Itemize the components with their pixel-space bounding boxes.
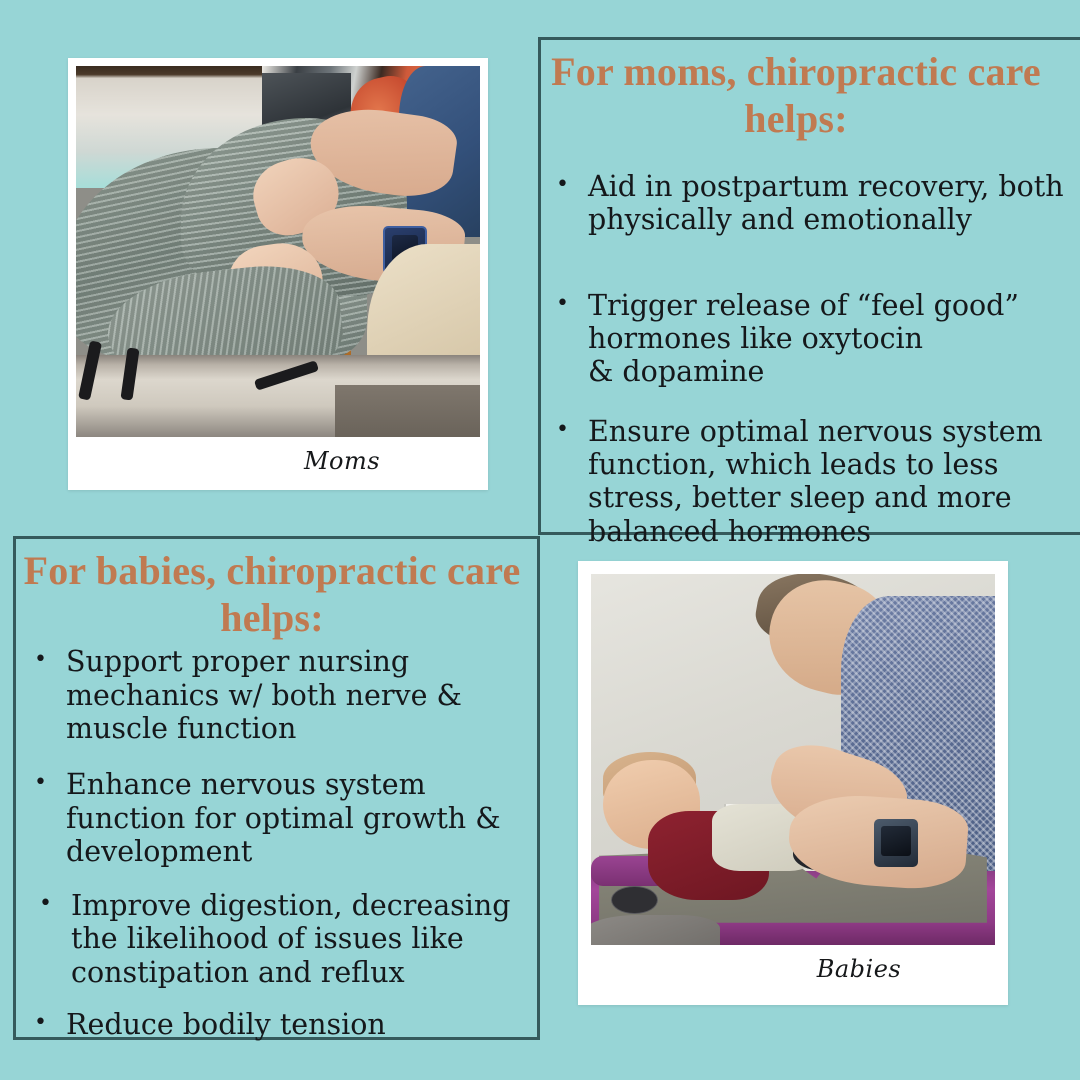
moms-photo-caption: Moms bbox=[68, 447, 488, 475]
list-item: • Aid in postpartum recovery, both physi… bbox=[556, 170, 1068, 237]
list-item-text: Ensure optimal nervous system function, … bbox=[588, 415, 1068, 548]
bullet-icon: • bbox=[556, 417, 569, 443]
bullet-icon: • bbox=[34, 770, 47, 796]
list-item-text: Improve digestion, decreasing the likeli… bbox=[71, 889, 534, 990]
moms-photo bbox=[76, 66, 480, 437]
list-item-text: Trigger release of “feel good” hormones … bbox=[588, 289, 1068, 389]
bullet-icon: • bbox=[39, 891, 52, 917]
list-item: • Reduce bodily tension bbox=[34, 1008, 534, 1042]
list-item-text: Enhance nervous system function for opti… bbox=[66, 768, 534, 869]
moms-panel-heading: For moms, chiropractic care helps: bbox=[546, 48, 1046, 142]
babies-photo-caption: Babies bbox=[578, 955, 1008, 983]
babies-benefits-list: • Support proper nursing mechanics w/ bo… bbox=[34, 645, 534, 1041]
list-item: • Ensure optimal nervous system function… bbox=[556, 415, 1068, 548]
list-item: • Support proper nursing mechanics w/ bo… bbox=[34, 645, 534, 746]
moms-photo-frame: Moms bbox=[68, 58, 488, 490]
babies-photo bbox=[591, 574, 995, 945]
list-item-text: Support proper nursing mechanics w/ both… bbox=[66, 645, 534, 746]
blanket bbox=[591, 915, 720, 945]
moms-benefits-list: • Aid in postpartum recovery, both physi… bbox=[556, 170, 1068, 548]
table-knob bbox=[611, 886, 657, 914]
bullet-icon: • bbox=[34, 1010, 47, 1036]
list-item: • Trigger release of “feel good” hormone… bbox=[556, 289, 1068, 389]
babies-photo-frame: Babies bbox=[578, 561, 1008, 1005]
bullet-icon: • bbox=[34, 647, 47, 673]
bullet-icon: • bbox=[556, 291, 569, 317]
infographic-canvas: For moms, chiropractic care helps: • Aid… bbox=[0, 0, 1080, 1080]
clinic-floor bbox=[335, 385, 480, 437]
list-item-text: Reduce bodily tension bbox=[66, 1008, 534, 1042]
list-item: • Enhance nervous system function for op… bbox=[34, 768, 534, 869]
smartwatch-icon bbox=[874, 819, 918, 867]
babies-panel-heading: For babies, chiropractic care helps: bbox=[22, 547, 522, 641]
bullet-icon: • bbox=[556, 172, 569, 198]
list-item: • Improve digestion, decreasing the like… bbox=[34, 889, 534, 990]
list-item-text: Aid in postpartum recovery, both physica… bbox=[588, 170, 1068, 237]
